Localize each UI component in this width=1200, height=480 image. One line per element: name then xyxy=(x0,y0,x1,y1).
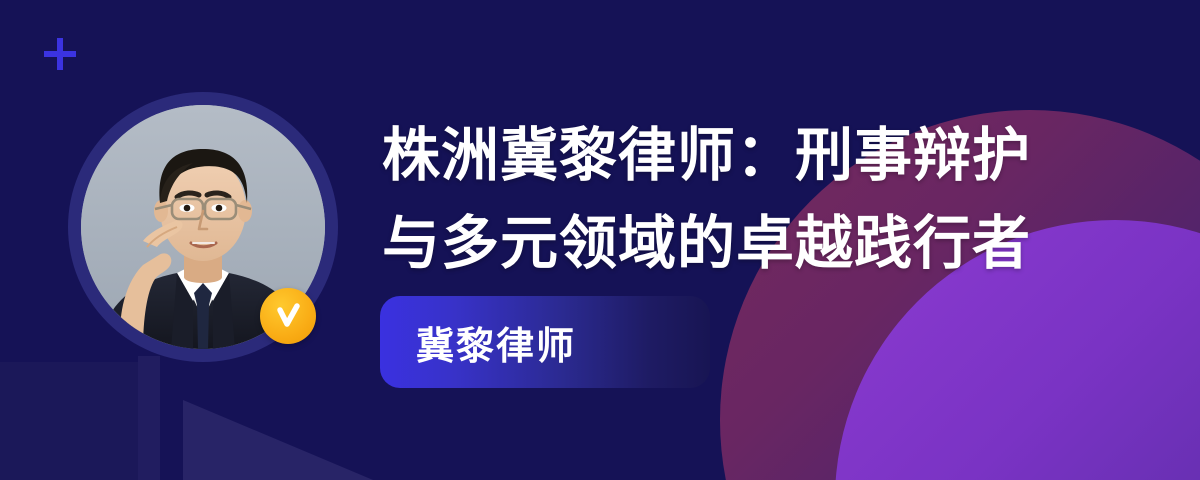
page-title: 株洲冀黎律师：刑事辩护 与多元领域的卓越践行者 xyxy=(382,112,1082,288)
avatar xyxy=(68,92,338,392)
verified-check-icon xyxy=(260,288,316,344)
author-name-pill[interactable]: 冀黎律师 xyxy=(380,296,710,388)
page-title-line-1: 株洲冀黎律师：刑事辩护 xyxy=(382,112,1082,200)
decor-triangle xyxy=(183,400,373,480)
page-title-line-2: 与多元领域的卓越践行者 xyxy=(382,200,1082,288)
author-name-label: 冀黎律师 xyxy=(416,315,576,370)
article-banner: 株洲冀黎律师：刑事辩护 与多元领域的卓越践行者 冀黎律师 xyxy=(0,0,1200,480)
plus-icon xyxy=(42,36,78,72)
